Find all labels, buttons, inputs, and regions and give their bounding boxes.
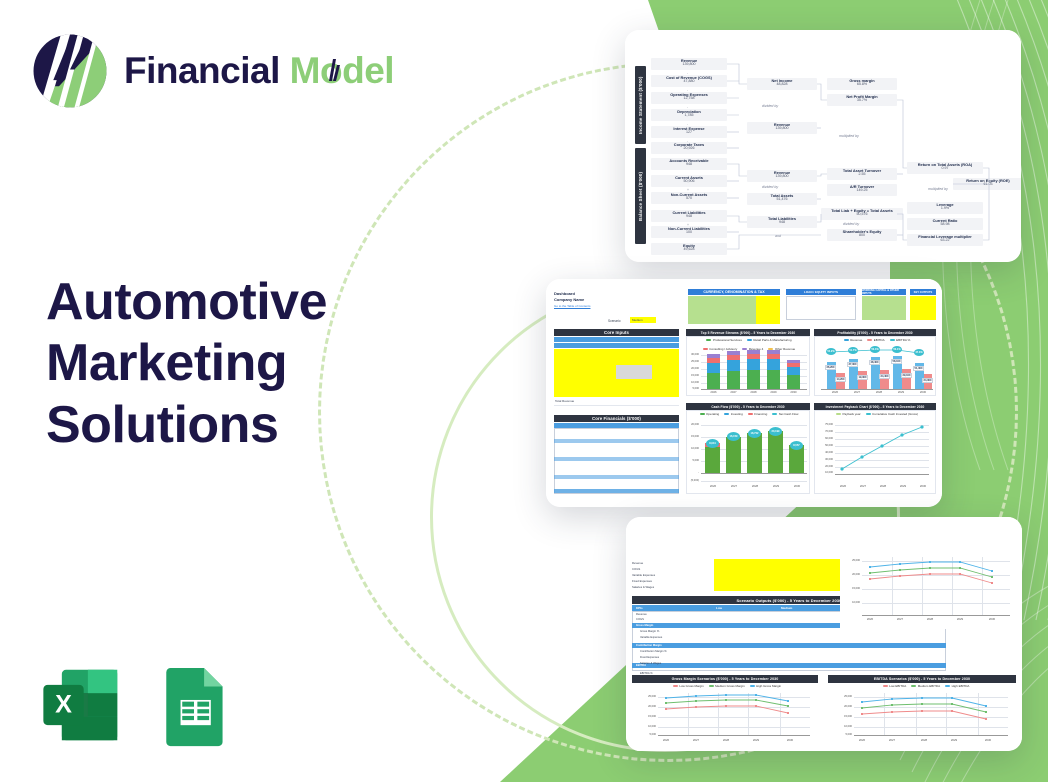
rs-xtick-2026: 2026 bbox=[862, 617, 878, 621]
prof-xtick-2029: 2029 bbox=[893, 390, 909, 394]
ebitda-pct-2030: 47.3% bbox=[914, 349, 924, 356]
cf-ytick-20000: 20,000 bbox=[687, 423, 699, 426]
cf-ytick-zero: - bbox=[687, 471, 699, 474]
cf-bubble-2030: 8,557 bbox=[790, 441, 803, 450]
gm-ytick-10000: 10,000 bbox=[634, 725, 656, 728]
th-medium: Medium bbox=[781, 606, 792, 610]
revenue-label-2028: 48,400 bbox=[869, 360, 880, 365]
rs-xtick-2030: 2030 bbox=[984, 617, 1000, 621]
brand-logo[interactable]: Financial Model bbox=[32, 33, 394, 109]
eb-xtick-2026: 2026 bbox=[854, 738, 870, 742]
revenue-label-2029: 58,100 bbox=[891, 359, 902, 364]
rs-ytick-10000: 10,000 bbox=[840, 601, 860, 604]
legend-operating: Operating bbox=[700, 412, 720, 416]
eb-xtick-2027: 2027 bbox=[884, 738, 900, 742]
chart-title-cash-flow: Cash Flow ($'000) - 5 Years to December … bbox=[686, 403, 810, 410]
prof-xtick-2030: 2030 bbox=[915, 390, 931, 394]
gm-xtick-2028: 2028 bbox=[718, 738, 734, 742]
gm-ytick-25000: 25,000 bbox=[634, 695, 656, 698]
rs-ytick-25000: 25,000 bbox=[840, 559, 860, 562]
cf-xtick-2026: 2026 bbox=[705, 484, 721, 488]
xtick-2029: 2029 bbox=[766, 390, 781, 394]
cf-ytick-5000: 5,000 bbox=[687, 459, 699, 462]
ytick-20000: 20,000 bbox=[687, 367, 699, 370]
cell-contribution-margin-label: Contribution Margin bbox=[636, 644, 662, 647]
ebitda-pct-2027: 51.7% bbox=[848, 347, 858, 354]
dupont-sheet: Income Statement ($'000) Balance Sheet (… bbox=[625, 30, 1021, 262]
xtick-2030: 2030 bbox=[786, 390, 801, 394]
cell-revenue-label: Revenue bbox=[636, 613, 647, 616]
scenario-top-yellow-grid bbox=[714, 559, 856, 591]
ytick-10000: 10,000 bbox=[687, 381, 699, 384]
row-contribution-margin bbox=[632, 643, 946, 648]
headline-line-1: Automotive bbox=[46, 272, 327, 333]
core-financials-gross-margin-row bbox=[554, 439, 679, 443]
svg-text:X: X bbox=[55, 691, 72, 719]
rs-ytick-15000: 15,000 bbox=[840, 587, 860, 590]
prof-xtick-2027: 2027 bbox=[849, 390, 865, 394]
ebitda-label-2026: 14,200 bbox=[835, 377, 846, 382]
chart-title-gross-margin-scenarios: Gross Margin Scenarios ($'000) - 5 Years… bbox=[632, 675, 818, 683]
legend-retail-parts: Retail Parts & Manufacturing bbox=[747, 338, 792, 342]
dashboard-sheet: Dashboard Company Name Go to the Table o… bbox=[546, 279, 942, 507]
cf-bubble-2026: 8,644 bbox=[706, 439, 719, 448]
cf-bubble-2028: 18,702 bbox=[748, 429, 761, 438]
ytick-5000: 5,000 bbox=[687, 387, 699, 390]
cell-gross-margin-pct-label: Gross Margin % bbox=[640, 630, 659, 633]
gm-ytick-15000: 15,000 bbox=[634, 715, 656, 718]
core-inputs-total-label: Total Revenue bbox=[555, 399, 574, 403]
core-financials-ebitda-row bbox=[554, 457, 679, 461]
eb-ytick-10000: 10,000 bbox=[830, 725, 852, 728]
cf-xtick-2030: 2030 bbox=[789, 484, 805, 488]
cf-xtick-2029: 2029 bbox=[768, 484, 784, 488]
chart-investment-payback: Payback year Cumulative Cash Invested (G… bbox=[814, 410, 936, 494]
scenario-top-row-fixed: Fixed Expenses bbox=[632, 579, 652, 583]
legend-professional-services: Professional Services bbox=[706, 338, 741, 342]
revenue-label-2030: 51,300 bbox=[913, 366, 924, 371]
gm-ytick-20000: 20,000 bbox=[634, 705, 656, 708]
eb-ytick-15000: 15,000 bbox=[830, 715, 852, 718]
cell-fixed-expenses-label: Fixed Expenses bbox=[640, 656, 659, 659]
dupont-connectors bbox=[625, 30, 1021, 262]
financial-dashboard-card[interactable]: Dashboard Company Name Go to the Table o… bbox=[546, 279, 942, 507]
chart-profitability: Revenue EBITDA EBITDA % 54.2% 51.7% 50.4… bbox=[814, 336, 936, 396]
chart-ebitda-scenarios: Low EBITDA Medium EBITDA High EBITDA 25, bbox=[828, 683, 1016, 747]
ytick-15000: 15,000 bbox=[687, 374, 699, 377]
dashboard-title: Dashboard bbox=[554, 291, 575, 296]
rs-xtick-2028: 2028 bbox=[922, 617, 938, 621]
eb-xtick-2028: 2028 bbox=[916, 738, 932, 742]
revenue-label-2027: 37,300 bbox=[847, 362, 858, 367]
core-financials-col-header bbox=[554, 423, 679, 428]
cell-gross-margin-label: Gross Margin bbox=[636, 624, 653, 627]
panel-values-currency bbox=[756, 296, 780, 324]
gm-xtick-2029: 2029 bbox=[748, 738, 764, 742]
core-inputs-greyed-cells bbox=[616, 365, 652, 379]
ebitda-pct-2028: 50.4% bbox=[870, 346, 880, 353]
ebitda-label-2028: 24,400 bbox=[879, 374, 890, 379]
core-inputs-blank-rows bbox=[554, 387, 679, 397]
gm-xtick-2030: 2030 bbox=[782, 738, 798, 742]
scenario-value: Medium bbox=[632, 318, 643, 322]
eb-ytick-20000: 20,000 bbox=[830, 705, 852, 708]
chart-title-revenue-streams: Top 5 Revenue Streams ($'000) - 5 Years … bbox=[686, 329, 810, 336]
legend-financing: Financing bbox=[748, 412, 768, 416]
chart-title-ebitda-scenarios: EBITDA Scenarios ($'000) - 5 Years to De… bbox=[828, 675, 1016, 683]
xtick-2027: 2027 bbox=[726, 390, 741, 394]
revenue-label-2026: 26,200 bbox=[825, 365, 836, 370]
chart-title-investment-payback: Investment Payback Chart ($'000) - 5 Yea… bbox=[814, 403, 936, 410]
dupont-analysis-card[interactable]: Income Statement ($'000) Balance Sheet (… bbox=[625, 30, 1021, 262]
panel-body-loan-equity bbox=[786, 296, 856, 320]
ebitda-pct-2026: 54.2% bbox=[826, 348, 836, 355]
gm-ytick-5000: 5,000 bbox=[634, 733, 656, 736]
rs-xtick-2029: 2029 bbox=[952, 617, 968, 621]
ip-xtick-2029: 2029 bbox=[895, 484, 911, 488]
gm-xtick-2026: 2026 bbox=[658, 738, 674, 742]
cell-cogs-label: COGS bbox=[636, 618, 644, 621]
legend-net-cash-flow: Net Cash Flow bbox=[772, 412, 798, 416]
ebitda-pct-2029: 50.1% bbox=[892, 346, 902, 353]
core-financials-cashflow-row bbox=[554, 475, 679, 479]
eb-ytick-25000: 25,000 bbox=[830, 695, 852, 698]
ytick-30000: 30,000 bbox=[687, 353, 699, 356]
headline-line-3: Solutions bbox=[46, 395, 327, 456]
brand-word-model: Model bbox=[290, 50, 394, 92]
ebitda-label-2029: 29,100 bbox=[901, 373, 912, 378]
brand-word-financial: Financial bbox=[124, 50, 280, 91]
cell-contribution-margin-pct-label: Contribution Margin % bbox=[640, 650, 667, 653]
panel-header-key-outputs: KEY OUTPUTS bbox=[910, 289, 936, 295]
scenario-top-row-salaries: Salaries & Wages bbox=[632, 585, 654, 589]
panel-header-currency: CURRENCY, DENOMINATION & TAX bbox=[688, 289, 780, 295]
scenario-outputs-card[interactable]: Revenue COGS Variable Expenses Fixed Exp… bbox=[626, 517, 1022, 751]
left-content-column: Financial Model Automotive Marketing Sol… bbox=[0, 0, 470, 782]
chart-revenue-scenarios: 2026 2027 2028 2029 2030 25,000 20,000 1… bbox=[840, 551, 1016, 629]
financial-model-circle-bars-logo-icon bbox=[32, 33, 108, 109]
scenario-sheet: Revenue COGS Variable Expenses Fixed Exp… bbox=[626, 517, 1022, 751]
panel-header-loan-equity: LOAN / EQUITY INPUTS bbox=[786, 289, 856, 295]
brand-o-bar-icon bbox=[327, 59, 340, 81]
core-financials-cash-row bbox=[554, 489, 679, 493]
dashboard-subtitle: Company Name bbox=[554, 297, 584, 302]
core-inputs-subheader-row bbox=[554, 343, 679, 348]
core-financials-body bbox=[554, 428, 679, 494]
gm-xtick-2027: 2027 bbox=[688, 738, 704, 742]
page-title: Automotive Marketing Solutions bbox=[46, 272, 327, 456]
ytick-25000: 25,000 bbox=[687, 360, 699, 363]
th-low: Low bbox=[716, 606, 722, 610]
ip-xtick-2028: 2028 bbox=[875, 484, 891, 488]
scenario-label: Scenario bbox=[608, 319, 621, 323]
chart-gross-margin-scenarios: Low Gross Margin Medium Gross Margin Hig… bbox=[632, 683, 818, 747]
scenario-top-row-cogs: COGS bbox=[632, 567, 640, 571]
ip-xtick-2030: 2030 bbox=[915, 484, 931, 488]
google-sheets-icon[interactable] bbox=[152, 663, 236, 747]
scenario-top-row-variable: Variable Expenses bbox=[632, 573, 655, 577]
th-kpis: KPIs bbox=[636, 606, 643, 610]
cf-xtick-2027: 2027 bbox=[726, 484, 742, 488]
prof-xtick-2026: 2026 bbox=[827, 390, 843, 394]
chart-revenue-streams: Professional Services Retail Parts & Man… bbox=[686, 336, 810, 396]
core-inputs-year-row bbox=[554, 337, 679, 342]
core-financials-header: Core Financials ($'000) bbox=[554, 415, 679, 422]
xtick-2028: 2028 bbox=[746, 390, 761, 394]
chart-cash-flow: Operating Investing Financing Net Cash F… bbox=[686, 410, 810, 494]
panel-body-working-capital bbox=[862, 296, 906, 320]
eb-ytick-5000: 5,000 bbox=[830, 733, 852, 736]
eb-xtick-2030: 2030 bbox=[980, 738, 996, 742]
panel-header-working-capital: WORKING CAPITAL & OTHER INPUTS bbox=[862, 289, 906, 295]
table-of-contents-link[interactable]: Go to the Table of Contents bbox=[554, 304, 590, 308]
ebitda-label-2027: 19,300 bbox=[857, 375, 868, 380]
cell-ebitda-label: EBITDA bbox=[636, 664, 646, 667]
cf-bubble-2029: 20,199 bbox=[769, 427, 782, 436]
core-inputs-total-rule bbox=[554, 405, 679, 406]
cell-variable-expenses-label: Variable Expenses bbox=[640, 636, 662, 639]
cf-ytick-15000: 15,000 bbox=[687, 435, 699, 438]
rs-xtick-2027: 2027 bbox=[892, 617, 908, 621]
row-ebitda bbox=[632, 663, 946, 668]
cf-bubble-2027: 16,159 bbox=[727, 432, 740, 441]
cf-ytick-neg5000: (5,000) bbox=[687, 479, 699, 482]
microsoft-excel-icon[interactable]: X bbox=[40, 663, 124, 747]
cf-ytick-10000: 10,000 bbox=[687, 447, 699, 450]
eb-xtick-2029: 2029 bbox=[946, 738, 962, 742]
brand-logo-text: Financial Model bbox=[124, 50, 394, 92]
prof-xtick-2028: 2028 bbox=[871, 390, 887, 394]
legend-investing: Investing bbox=[724, 412, 743, 416]
ip-xtick-2026: 2026 bbox=[835, 484, 851, 488]
headline-line-2: Marketing bbox=[46, 333, 327, 394]
chart-title-profitability: Profitability ($'000) - 5 Years to Decem… bbox=[814, 329, 936, 336]
scenario-top-row-revenue: Revenue bbox=[632, 561, 643, 565]
xtick-2026: 2026 bbox=[706, 390, 721, 394]
rs-ytick-20000: 20,000 bbox=[840, 573, 860, 576]
cf-xtick-2028: 2028 bbox=[747, 484, 763, 488]
panel-body-key-outputs bbox=[910, 296, 936, 320]
ip-xtick-2027: 2027 bbox=[855, 484, 871, 488]
core-inputs-header: Core Inputs bbox=[554, 329, 679, 336]
supported-formats: X bbox=[40, 663, 236, 747]
ebitda-label-2030: 24,300 bbox=[922, 378, 933, 383]
